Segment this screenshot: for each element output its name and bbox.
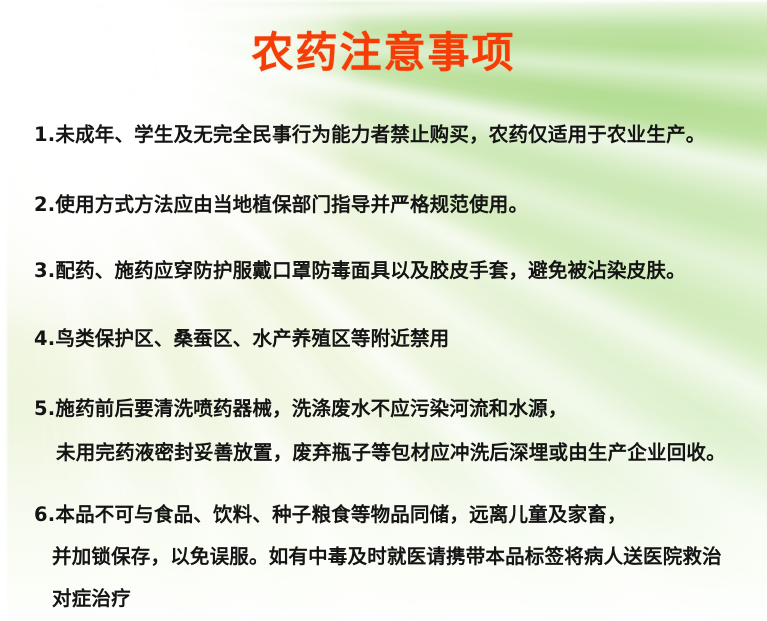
list-item: 6.本品不可与食品、饮料、种子粮食等物品同储，远离儿童及家畜， 并加锁保存，以免…	[34, 502, 722, 612]
list-item-line-continued: 对症治疗	[34, 586, 722, 612]
page-title: 农药注意事项	[0, 30, 767, 76]
list-item-line: 6.本品不可与食品、饮料、种子粮食等物品同储，远离儿童及家畜，	[34, 502, 722, 528]
list-item-line: 5.施药前后要清洗喷药器械，洗涤废水不应污染河流和水源，	[34, 396, 726, 422]
pesticide-precautions-poster: 农药注意事项 1.未成年、学生及无完全民事行为能力者禁止购买，农药仅适用于农业生…	[0, 0, 767, 621]
list-item: 2.使用方式方法应由当地植保部门指导并严格规范使用。	[34, 192, 528, 218]
list-item: 1.未成年、学生及无完全民事行为能力者禁止购买，农药仅适用于农业生产。	[34, 122, 705, 148]
list-item-line: 1.未成年、学生及无完全民事行为能力者禁止购买，农药仅适用于农业生产。	[34, 122, 705, 148]
list-item-line-continued: 未用完药液密封妥善放置，废弃瓶子等包材应冲洗后深埋或由生产企业回收。	[34, 440, 726, 466]
list-item: 3.配药、施药应穿防护服戴口罩防毒面具以及胶皮手套，避免被沾染皮肤。	[34, 258, 686, 284]
list-item-line: 3.配药、施药应穿防护服戴口罩防毒面具以及胶皮手套，避免被沾染皮肤。	[34, 258, 686, 284]
list-item: 4.鸟类保护区、桑蚕区、水产养殖区等附近禁用	[34, 326, 449, 352]
list-item-line-continued: 并加锁保存，以免误服。如有中毒及时就医请携带本品标签将病人送医院救治	[34, 544, 722, 570]
list-item-line: 2.使用方式方法应由当地植保部门指导并严格规范使用。	[34, 192, 528, 218]
poster-content: 农药注意事项 1.未成年、学生及无完全民事行为能力者禁止购买，农药仅适用于农业生…	[0, 0, 767, 621]
list-item: 5.施药前后要清洗喷药器械，洗涤废水不应污染河流和水源， 未用完药液密封妥善放置…	[34, 396, 726, 466]
list-item-line: 4.鸟类保护区、桑蚕区、水产养殖区等附近禁用	[34, 326, 449, 352]
